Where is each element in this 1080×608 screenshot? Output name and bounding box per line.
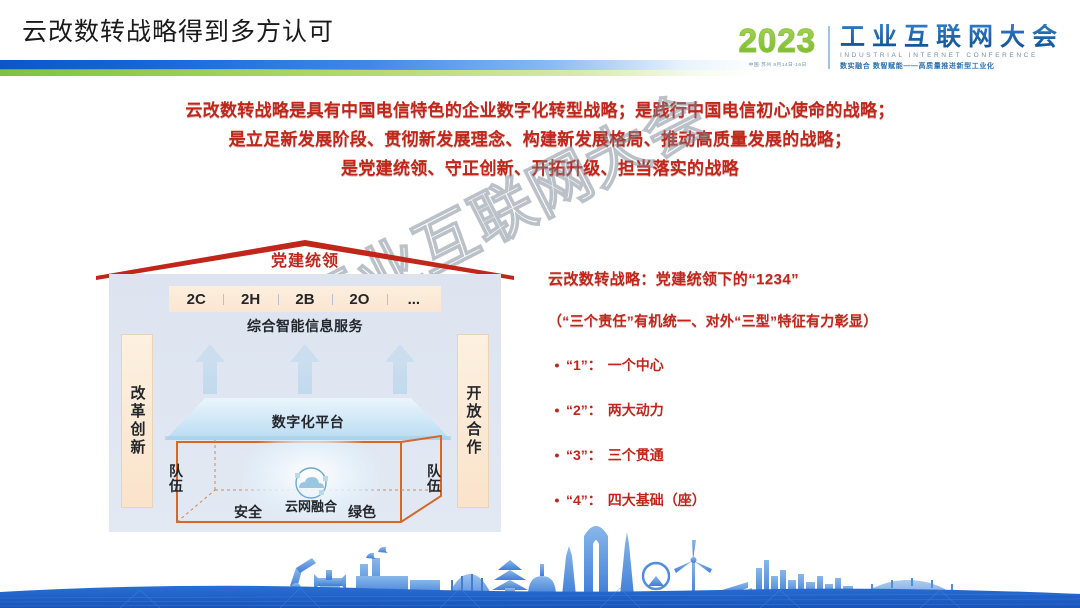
up-arrow-icon (195, 344, 225, 394)
logo-divider (828, 26, 830, 69)
bullet-value: 一个中心 (608, 355, 664, 375)
logo-name-en: INDUSTRIAL INTERNET CONFERENCE (840, 52, 1064, 59)
list-item: • “4”： 四大基础（座） (548, 490, 1028, 510)
panel-heading: 云改数转战略：党建统领下的“1234” (548, 268, 1028, 289)
bullet-key: “2”： (566, 400, 602, 420)
segment-item: 2O (332, 291, 386, 308)
segment-item: ... (387, 291, 441, 308)
bullet-dot-icon: • (548, 493, 566, 507)
band-green (0, 70, 760, 76)
logo-name-block: 工业互联网大会 INDUSTRIAL INTERNET CONFERENCE 数… (840, 24, 1064, 71)
team-right-label: 队伍 (425, 464, 443, 493)
logo-name-cn: 工业互联网大会 (840, 24, 1064, 50)
bullet-dot-icon: • (548, 403, 566, 417)
house-body: 2C 2H 2B 2O ... 综合智能信息服务 改革创新 开放合作 (109, 274, 501, 532)
conference-logo: 2023 中国·苏州 8月14日-16日 工业互联网大会 INDUSTRIAL … (739, 24, 1064, 71)
logo-tagline: 数实融合 数智赋能——高质量推进新型工业化 (840, 61, 1064, 71)
page-title: 云改数转战略得到多方认可 (22, 12, 334, 48)
logo-year-block: 2023 中国·苏州 8月14日-16日 (739, 24, 828, 68)
up-arrow-icon (385, 344, 415, 394)
pillar-left-label: 改革创新 (127, 385, 148, 457)
list-item: • “1”： 一个中心 (548, 355, 1028, 375)
cloud-network-icon (285, 466, 337, 500)
panel-subheading: （“三个责任”有机统一、对外“三型”特征有力彰显） (548, 311, 1028, 331)
headline-line-1: 云改数转战略是具有中国电信特色的企业数字化转型战略；是践行中国电信初心使命的战略… (0, 96, 1080, 125)
headline-block: 云改数转战略是具有中国电信特色的企业数字化转型战略；是践行中国电信初心使命的战略… (0, 96, 1080, 184)
list-item: • “2”： 两大动力 (548, 400, 1028, 420)
logo-year: 2023 (739, 24, 816, 57)
pillar-right: 开放合作 (457, 334, 489, 508)
headline-line-3: 是党建统领、守正创新、开拓升级、担当落实的战略 (0, 154, 1080, 183)
bullet-key: “1”： (566, 355, 602, 375)
segment-item: 2C (169, 291, 223, 308)
service-label: 综合智能信息服务 (109, 316, 501, 336)
house-diagram: 党建统领 2C 2H 2B 2O ... 综合智能信息服务 改革创新 开放合作 (96, 240, 514, 540)
bullet-value: 四大基础（座） (608, 490, 706, 510)
bullet-dot-icon: • (548, 448, 566, 462)
team-left-label: 队伍 (167, 464, 185, 493)
bullet-dot-icon: • (548, 358, 566, 372)
foundation-label-left: 安全 (234, 502, 262, 522)
roof-label: 党建统领 (96, 247, 514, 271)
strategy-panel: 云改数转战略：党建统领下的“1234” （“三个责任”有机统一、对外“三型”特征… (548, 268, 1028, 535)
bullet-value: 两大动力 (608, 400, 664, 420)
slide-root: 云改数转战略得到多方认可 2023 中国·苏州 8月14日-16日 工业互联网大… (0, 0, 1080, 608)
pillar-left: 改革创新 (121, 334, 153, 508)
pillar-right-label: 开放合作 (463, 385, 484, 457)
bullet-key: “3”： (566, 445, 602, 465)
up-arrow-icon (290, 344, 320, 394)
bullet-list: • “1”： 一个中心 • “2”： 两大动力 • “3”： 三个贯通 • “4… (548, 355, 1028, 510)
bullet-key: “4”： (566, 490, 602, 510)
header-color-band (0, 60, 760, 76)
segment-item: 2B (278, 291, 332, 308)
foundation-label-right: 绿色 (348, 502, 376, 522)
logo-year-subtext: 中国·苏州 8月14日-16日 (740, 61, 814, 68)
upward-arrows (195, 344, 415, 394)
bottom-skyline-decoration (0, 520, 1080, 608)
list-item: • “3”： 三个贯通 (548, 445, 1028, 465)
foundation-labels: 安全 绿色 (109, 502, 501, 522)
headline-line-2: 是立足新发展阶段、贯彻新发展理念、构建新发展格局、推动高质量发展的战略； (0, 125, 1080, 154)
bullet-value: 三个贯通 (608, 445, 664, 465)
platform-label: 数字化平台 (165, 412, 451, 432)
segment-strip: 2C 2H 2B 2O ... (169, 286, 441, 312)
segment-item: 2H (223, 291, 277, 308)
